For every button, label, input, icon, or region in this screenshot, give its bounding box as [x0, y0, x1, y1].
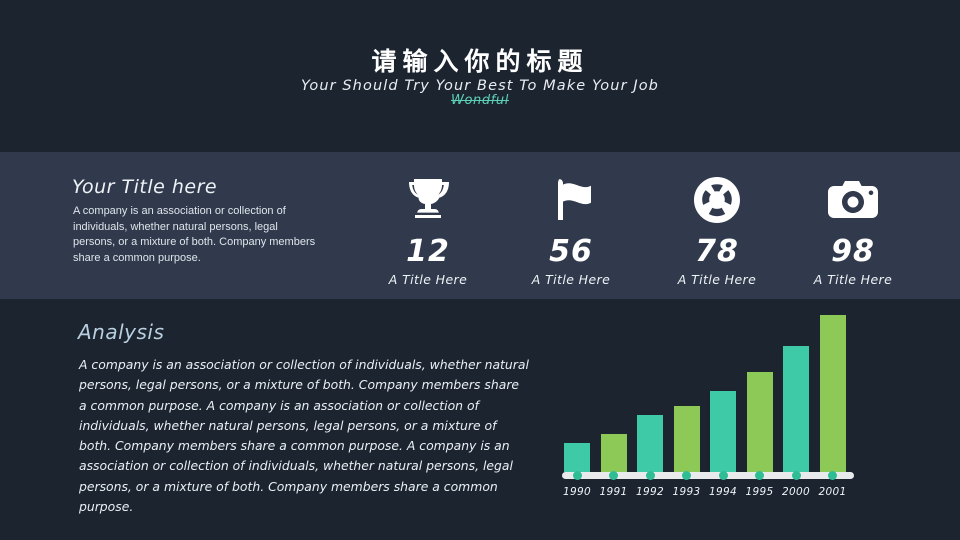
bar-2001[interactable]: [820, 315, 846, 472]
stat-label: A Title Here: [363, 272, 493, 287]
bar-1995[interactable]: [747, 372, 773, 472]
stat-label: A Title Here: [788, 272, 918, 287]
stat-card-3[interactable]: 78 A Title Here: [652, 172, 782, 287]
band-body-text: A company is an association or collectio…: [73, 204, 321, 266]
stat-card-1[interactable]: 12 A Title Here: [363, 172, 493, 287]
axis-dot-2001: [828, 471, 837, 480]
analysis-title: Analysis: [78, 320, 164, 344]
stat-value: 56: [506, 234, 636, 269]
axis-dot-2000: [792, 471, 801, 480]
axis-dot-1994: [719, 471, 728, 480]
x-axis-label: 1994: [703, 486, 743, 498]
axis-dot-1990: [573, 471, 582, 480]
chart-axis-line: [562, 472, 854, 479]
lifering-icon: [652, 172, 782, 228]
x-axis-label: 1991: [594, 486, 634, 498]
analysis-body-text: A company is an association or collectio…: [79, 355, 529, 517]
x-axis-label: 1992: [630, 486, 670, 498]
x-axis-label: 2001: [813, 486, 853, 498]
bar-1990[interactable]: [564, 443, 590, 472]
page-title: 请输入你的标题: [0, 42, 960, 78]
bar-1991[interactable]: [601, 434, 627, 472]
stat-label: A Title Here: [506, 272, 636, 287]
band-title: Your Title here: [72, 176, 217, 198]
bar-2000[interactable]: [783, 346, 809, 472]
stat-card-2[interactable]: 56 A Title Here: [506, 172, 636, 287]
trophy-icon: [363, 172, 493, 228]
bar-chart: 19901991199219931994199520002001: [560, 305, 860, 505]
header: 请输入你的标题 Your Should Try Your Best To Mak…: [0, 0, 960, 152]
flag-icon: [506, 172, 636, 228]
stats-band: Your Title here A company is an associat…: [0, 152, 960, 299]
page-subtitle: Your Should Try Your Best To Make Your J…: [0, 78, 960, 94]
stat-value: 12: [363, 234, 493, 269]
bar-1992[interactable]: [637, 415, 663, 472]
axis-dot-1995: [755, 471, 764, 480]
stat-value: 98: [788, 234, 918, 269]
stat-value: 78: [652, 234, 782, 269]
camera-icon: [788, 172, 918, 228]
x-axis-label: 1993: [667, 486, 707, 498]
axis-dot-1991: [609, 471, 618, 480]
axis-dot-1993: [682, 471, 691, 480]
x-axis-label: 2000: [776, 486, 816, 498]
bar-1994[interactable]: [710, 391, 736, 472]
axis-dot-1992: [646, 471, 655, 480]
stat-card-4[interactable]: 98 A Title Here: [788, 172, 918, 287]
x-axis-label: 1995: [740, 486, 780, 498]
stat-label: A Title Here: [652, 272, 782, 287]
page-subtitle-accent: Wondful: [0, 93, 960, 108]
slide-canvas: 请输入你的标题 Your Should Try Your Best To Mak…: [0, 0, 960, 540]
x-axis-label: 1990: [557, 486, 597, 498]
chart-plot-area: [560, 305, 856, 472]
bar-1993[interactable]: [674, 406, 700, 472]
